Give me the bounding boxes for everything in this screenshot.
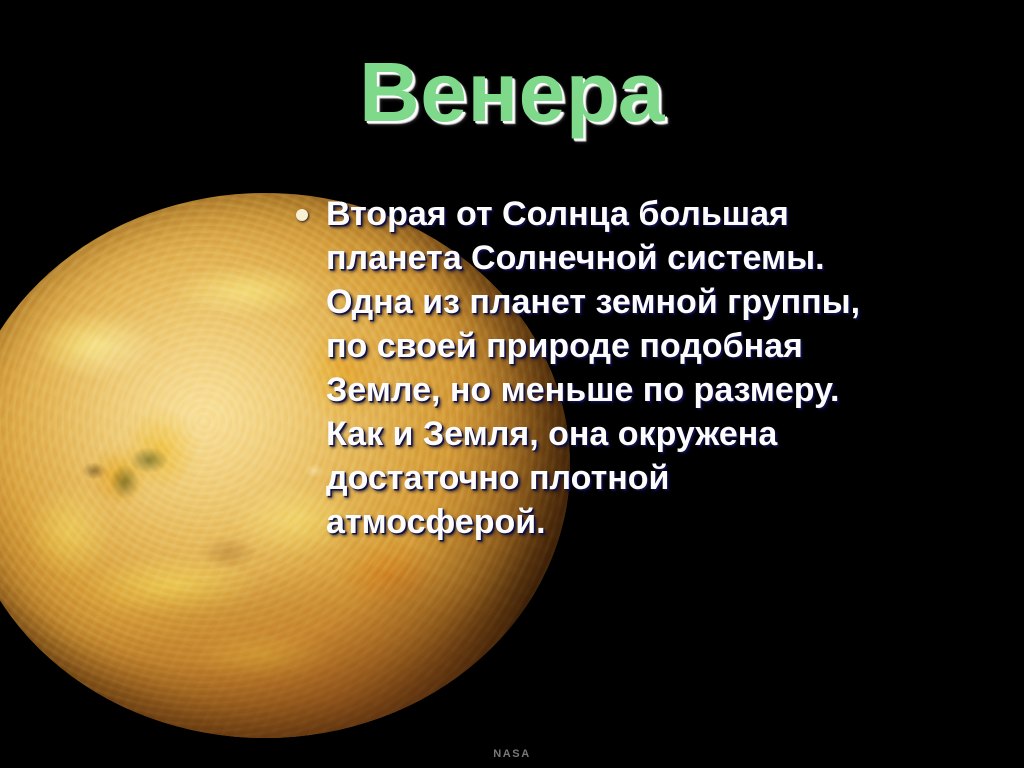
slide-body: Вторая от Солнца большая планета Солнечн… xyxy=(296,192,996,544)
body-line: по своей природе подобная xyxy=(326,324,996,368)
nasa-watermark: NASA xyxy=(0,748,1024,760)
bullet-item-text: Вторая от Солнца большая планета Солнечн… xyxy=(326,192,996,544)
body-line: достаточно плотной xyxy=(326,456,996,500)
body-line: Одна из планет земной группы, xyxy=(326,280,996,324)
body-line: планета Солнечной системы. xyxy=(326,236,996,280)
presentation-slide: Венера Вторая от Солнца большая планета … xyxy=(0,0,1024,768)
bullet-list-item: Вторая от Солнца большая планета Солнечн… xyxy=(296,192,996,544)
bullet-point-icon xyxy=(296,209,308,221)
body-line: Земле, но меньше по размеру. xyxy=(326,368,996,412)
slide-title: Венера xyxy=(0,44,1024,141)
body-line: атмосферой. xyxy=(326,500,996,544)
body-line: Как и Земля, она окружена xyxy=(326,412,996,456)
body-line: Вторая от Солнца большая xyxy=(326,192,996,236)
